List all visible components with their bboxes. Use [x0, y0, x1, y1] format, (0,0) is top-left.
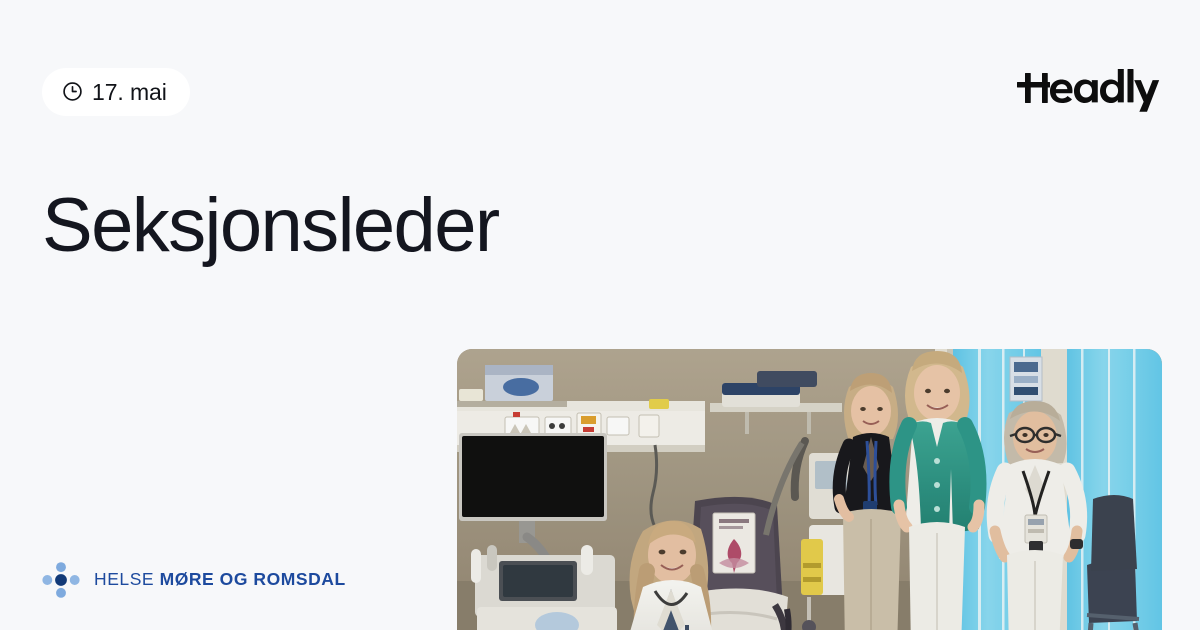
- headly-wordmark-icon: [1010, 64, 1160, 112]
- clinic-room-photo-icon: [457, 349, 1162, 630]
- date-badge: 17. mai: [42, 68, 190, 116]
- headly-logo[interactable]: [1010, 64, 1160, 112]
- five-dot-cross-icon: [42, 561, 80, 599]
- publisher-name-light: HELSE: [94, 569, 154, 589]
- share-card: 17. mai: [0, 0, 1200, 630]
- article-photo: [457, 349, 1162, 630]
- clock-icon: [62, 81, 83, 102]
- publisher-name: HELSE MØRE OG ROMSDAL: [94, 571, 346, 589]
- publisher-name-bold: MØRE OG ROMSDAL: [160, 569, 346, 589]
- page-title: Seksjonsleder: [42, 186, 742, 267]
- card-header: 17. mai: [0, 0, 1200, 150]
- date-label: 17. mai: [92, 81, 167, 104]
- publisher-logo: HELSE MØRE OG ROMSDAL: [42, 562, 346, 598]
